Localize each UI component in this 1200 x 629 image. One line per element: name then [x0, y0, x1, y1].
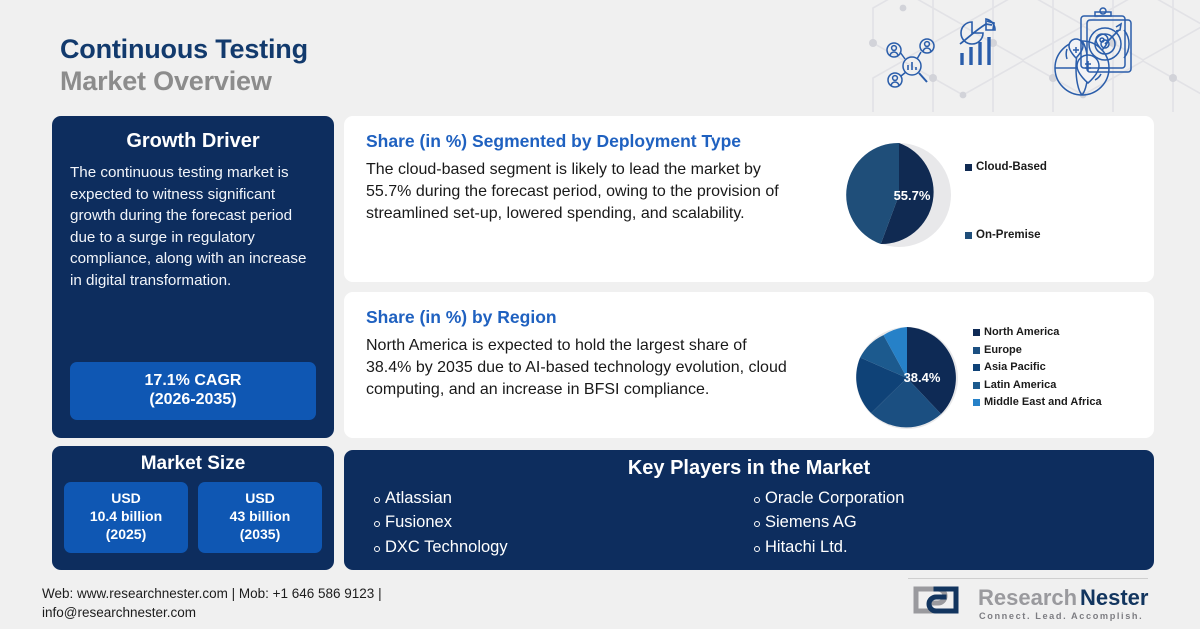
key-player-name: Oracle Corporation: [765, 486, 904, 510]
circle-bullet-icon: [754, 497, 760, 503]
legend-label: Europe: [984, 345, 1022, 356]
legend-item: Middle East and Africa: [973, 397, 1102, 408]
market-size-box-2025: USD 10.4 billion (2025): [64, 482, 188, 553]
logo-word-research: Research: [978, 585, 1077, 610]
region-card-body: North America is expected to hold the la…: [366, 335, 796, 401]
legend-label: Middle East and Africa: [984, 397, 1102, 408]
circle-bullet-icon: [374, 521, 380, 527]
deployment-pie-chart: 55.7%: [844, 140, 954, 255]
legend-swatch-icon: [973, 382, 980, 389]
key-players-column-left: Atlassian Fusionex DXC Technology: [374, 486, 754, 559]
circle-bullet-icon: [754, 546, 760, 552]
circle-bullet-icon: [374, 546, 380, 552]
legend-swatch-icon: [973, 347, 980, 354]
bar-chart-growth-icon: [960, 19, 995, 65]
circle-bullet-icon: [374, 497, 380, 503]
key-player-name: DXC Technology: [385, 535, 508, 559]
footer-contact-line-1: Web: www.researchnester.com | Mob: +1 64…: [42, 584, 512, 603]
growth-driver-heading: Growth Driver: [70, 130, 316, 153]
legend-item: On-Premise: [965, 230, 1047, 242]
region-pie-chart: 38.4%: [853, 324, 961, 437]
legend-swatch-icon: [973, 329, 980, 336]
key-player-name: Siemens AG: [765, 510, 857, 534]
legend-label: North America: [984, 327, 1059, 338]
logo-tagline: Connect. Lead. Accomplish.: [979, 611, 1143, 621]
legend-swatch-icon: [965, 164, 972, 171]
legend-item: Latin America: [973, 380, 1102, 391]
key-players-column-right: Oracle Corporation Siemens AG Hitachi Lt…: [754, 486, 1134, 559]
key-player-name: Hitachi Ltd.: [765, 535, 848, 559]
deployment-card-body: The cloud-based segment is likely to lea…: [366, 159, 796, 225]
cagr-badge: 17.1% CAGR (2026-2035): [70, 362, 316, 420]
legend-item: North America: [973, 327, 1102, 338]
list-item: Fusionex: [374, 510, 754, 534]
market-size-amount: 10.4 billion: [68, 508, 184, 526]
logo-bracket-icon: [916, 589, 956, 611]
region-card-title: Share (in %) by Region: [366, 307, 1154, 328]
cagr-period: (2026-2035): [74, 390, 312, 410]
market-size-box-2035: USD 43 billion (2035): [198, 482, 322, 553]
deployment-card-title: Share (in %) Segmented by Deployment Typ…: [366, 131, 1154, 152]
list-item: DXC Technology: [374, 535, 754, 559]
legend-item: Asia Pacific: [973, 362, 1102, 373]
market-size-year: (2025): [68, 526, 184, 544]
growth-driver-panel: Growth Driver The continuous testing mar…: [52, 116, 334, 438]
circle-bullet-icon: [754, 521, 760, 527]
legend-swatch-icon: [965, 232, 972, 239]
key-players-heading: Key Players in the Market: [344, 457, 1154, 480]
key-player-name: Fusionex: [385, 510, 452, 534]
page-subtitle: Market Overview: [60, 66, 308, 98]
market-size-panel: Market Size USD 10.4 billion (2025) USD …: [52, 446, 334, 570]
key-players-panel: Key Players in the Market Atlassian Fusi…: [344, 450, 1154, 570]
page-header: Continuous Testing Market Overview: [60, 34, 308, 98]
list-item: Hitachi Ltd.: [754, 535, 1134, 559]
page-title: Continuous Testing: [60, 34, 308, 66]
list-item: Oracle Corporation: [754, 486, 1134, 510]
legend-swatch-icon: [973, 399, 980, 406]
people-network-search-icon: [887, 39, 934, 87]
footer-divider: [908, 578, 1148, 579]
region-pie-legend: North America Europe Asia Pacific Latin …: [973, 327, 1102, 415]
market-size-currency: USD: [202, 490, 318, 508]
legend-item: Cloud-Based: [965, 162, 1047, 174]
market-size-heading: Market Size: [64, 453, 322, 475]
market-size-amount: 43 billion: [202, 508, 318, 526]
legend-item: Europe: [973, 345, 1102, 356]
list-item: Atlassian: [374, 486, 754, 510]
legend-label: On-Premise: [976, 230, 1041, 242]
legend-swatch-icon: [973, 364, 980, 371]
list-item: Siemens AG: [754, 510, 1134, 534]
deployment-pie-legend: Cloud-Based On-Premise: [965, 162, 1047, 297]
cagr-value: 17.1% CAGR: [74, 371, 312, 391]
footer-contact-info: Web: www.researchnester.com | Mob: +1 64…: [42, 584, 512, 622]
growth-driver-body: The continuous testing market is expecte…: [70, 162, 316, 291]
legend-label: Cloud-Based: [976, 162, 1047, 174]
deployment-pie-data-label: 55.7%: [894, 188, 931, 203]
decorative-hexagon-band: [855, 0, 1200, 112]
logo-word-nester: Nester: [1080, 585, 1149, 610]
region-pie-data-label: 38.4%: [904, 370, 941, 385]
market-size-currency: USD: [68, 490, 184, 508]
market-size-year: (2035): [202, 526, 318, 544]
legend-label: Asia Pacific: [984, 362, 1046, 373]
research-nester-logo: Research Nester Connect. Lead. Accomplis…: [910, 580, 1150, 624]
legend-label: Latin America: [984, 380, 1056, 391]
footer-contact-line-2: info@researchnester.com: [42, 603, 512, 622]
key-player-name: Atlassian: [385, 486, 452, 510]
